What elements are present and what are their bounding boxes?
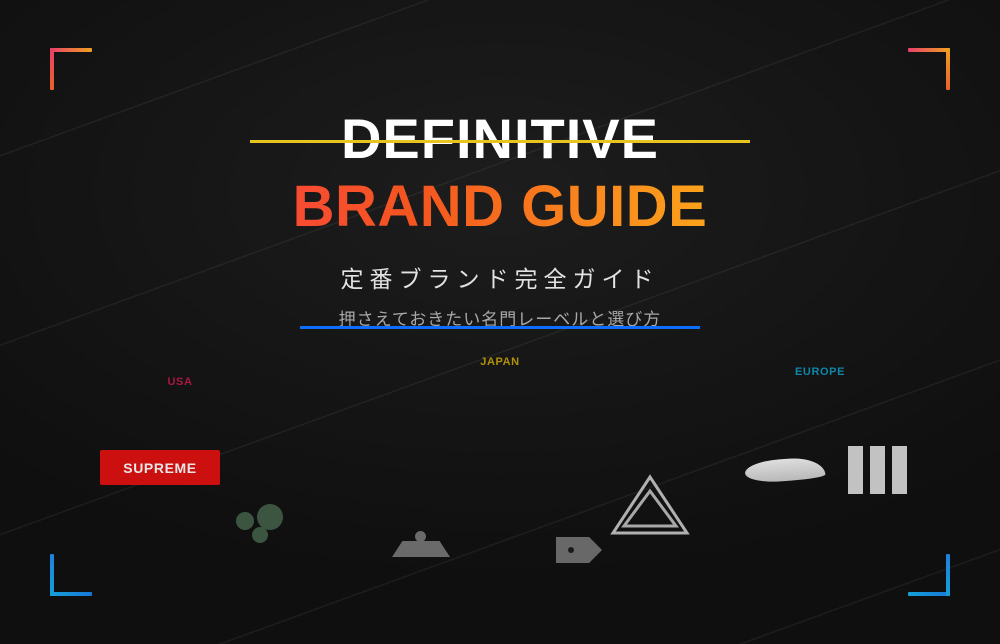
three-bars-icon [848, 446, 908, 494]
corner-bracket-horizontal [50, 592, 92, 596]
region-marker-usa: USA [120, 372, 240, 390]
bar-segment [892, 446, 907, 494]
corner-bracket-top-left [50, 48, 92, 90]
dome-cap [415, 531, 426, 542]
bar-segment [848, 446, 863, 494]
corner-bracket-horizontal [50, 48, 92, 52]
corner-bracket-bottom-left [50, 554, 92, 596]
corner-bracket-vertical [946, 48, 950, 90]
dome-body [392, 541, 450, 557]
circle-cluster-icon [236, 500, 296, 550]
lens-shape-icon [745, 459, 825, 481]
nested-triangle-icon [610, 474, 690, 536]
subtitle-japanese: 定番ブランド完全ガイド [0, 264, 1000, 294]
corner-bracket-vertical [946, 554, 950, 596]
circle-cluster-dot [252, 527, 268, 543]
brand-chip-supreme: SUPREME [100, 450, 220, 485]
circle-cluster-dot [236, 512, 254, 530]
corner-bracket-horizontal [908, 48, 950, 52]
lens-shape-body [744, 456, 825, 484]
page-title: DEFINITIVE [341, 108, 659, 170]
price-tag-icon [556, 537, 602, 563]
poster-canvas: DEFINITIVE BRAND GUIDE 定番ブランド完全ガイド 押さえてお… [0, 0, 1000, 644]
region-marker-europe: EUROPE [760, 362, 880, 380]
brand-chip-label: SUPREME [123, 460, 196, 476]
corner-bracket-vertical [50, 48, 54, 90]
region-marker-japan: JAPAN [440, 352, 560, 370]
page-subtitle-accent: BRAND GUIDE [0, 174, 1000, 240]
corner-bracket-vertical [50, 554, 54, 596]
bar-segment [870, 446, 885, 494]
price-tag-hole [568, 547, 574, 553]
dome-marker-icon [392, 531, 450, 557]
region-label: JAPAN [480, 356, 519, 368]
title-main-row: DEFINITIVE [0, 108, 1000, 170]
headline-block: DEFINITIVE BRAND GUIDE 定番ブランド完全ガイド 押さえてお… [0, 108, 1000, 332]
price-tag-body [556, 537, 602, 563]
corner-bracket-top-right [908, 48, 950, 90]
title-strikethrough-rule [250, 140, 750, 143]
region-label: USA [167, 376, 192, 388]
corner-bracket-horizontal [908, 592, 950, 596]
region-label: EUROPE [795, 366, 845, 378]
corner-bracket-bottom-right [908, 554, 950, 596]
divider-rule-blue [300, 326, 700, 329]
